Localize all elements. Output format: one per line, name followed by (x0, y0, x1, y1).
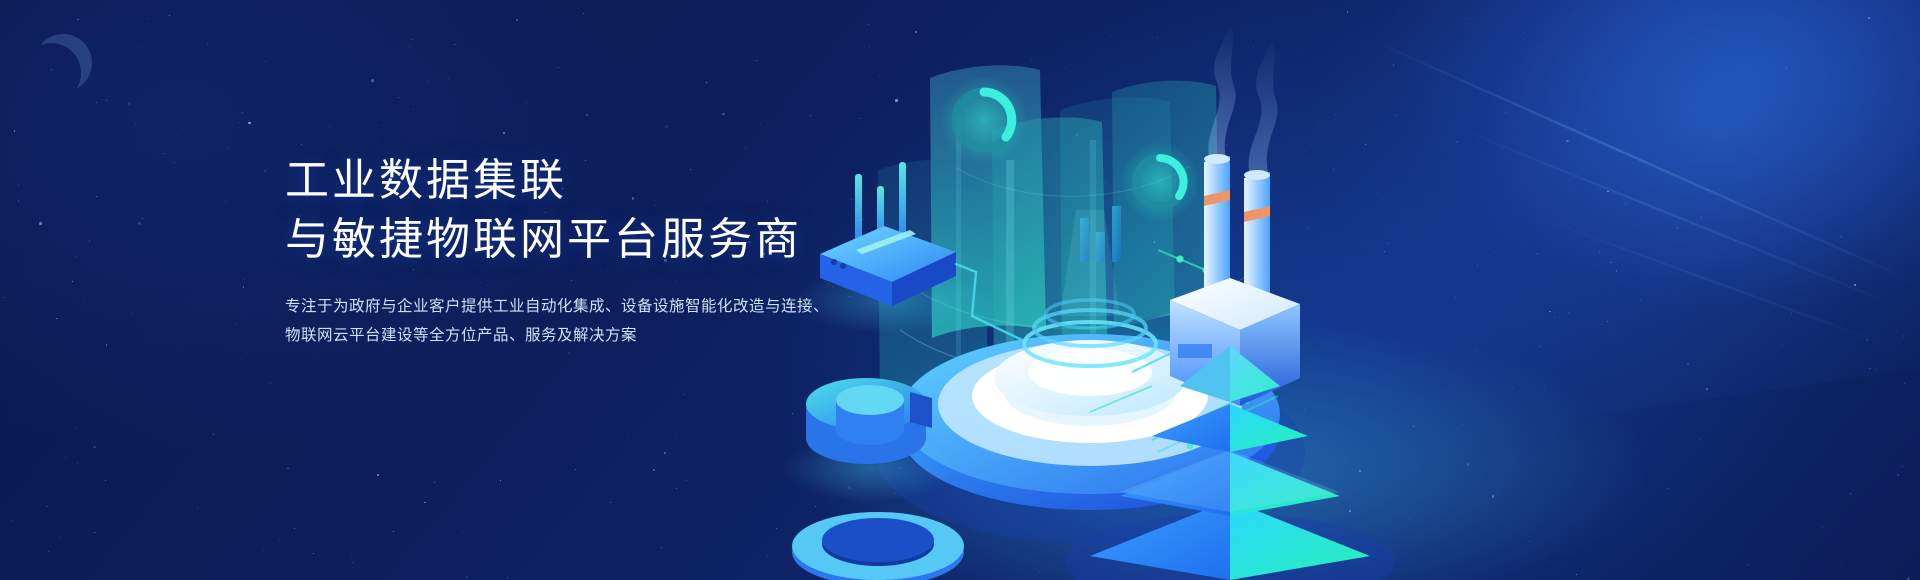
circular-platform (792, 512, 964, 580)
hero-banner: 工业数据集联 与敏捷物联网平台服务商 专注于为政府与企业客户提供工业自动化集成、… (0, 0, 1920, 580)
hero-illustration (760, 0, 1920, 580)
hero-headline: 工业数据集联 与敏捷物联网平台服务商 (285, 152, 925, 269)
hero-subtitle: 专注于为政府与企业客户提供工业自动化集成、设备设施智能化改造与连接、 物联网云平… (285, 293, 925, 350)
headline-line-2: 与敏捷物联网平台服务商 (285, 211, 925, 270)
hero-copy: 工业数据集联 与敏捷物联网平台服务商 专注于为政府与企业客户提供工业自动化集成、… (285, 152, 925, 350)
subtitle-line-2: 物联网云平台建设等全方位产品、服务及解决方案 (285, 322, 925, 351)
headline-line-1: 工业数据集联 (285, 156, 567, 205)
crescent-moon-icon (34, 34, 92, 92)
subtitle-line-1: 专注于为政府与企业客户提供工业自动化集成、设备设施智能化改造与连接、 (285, 293, 925, 322)
